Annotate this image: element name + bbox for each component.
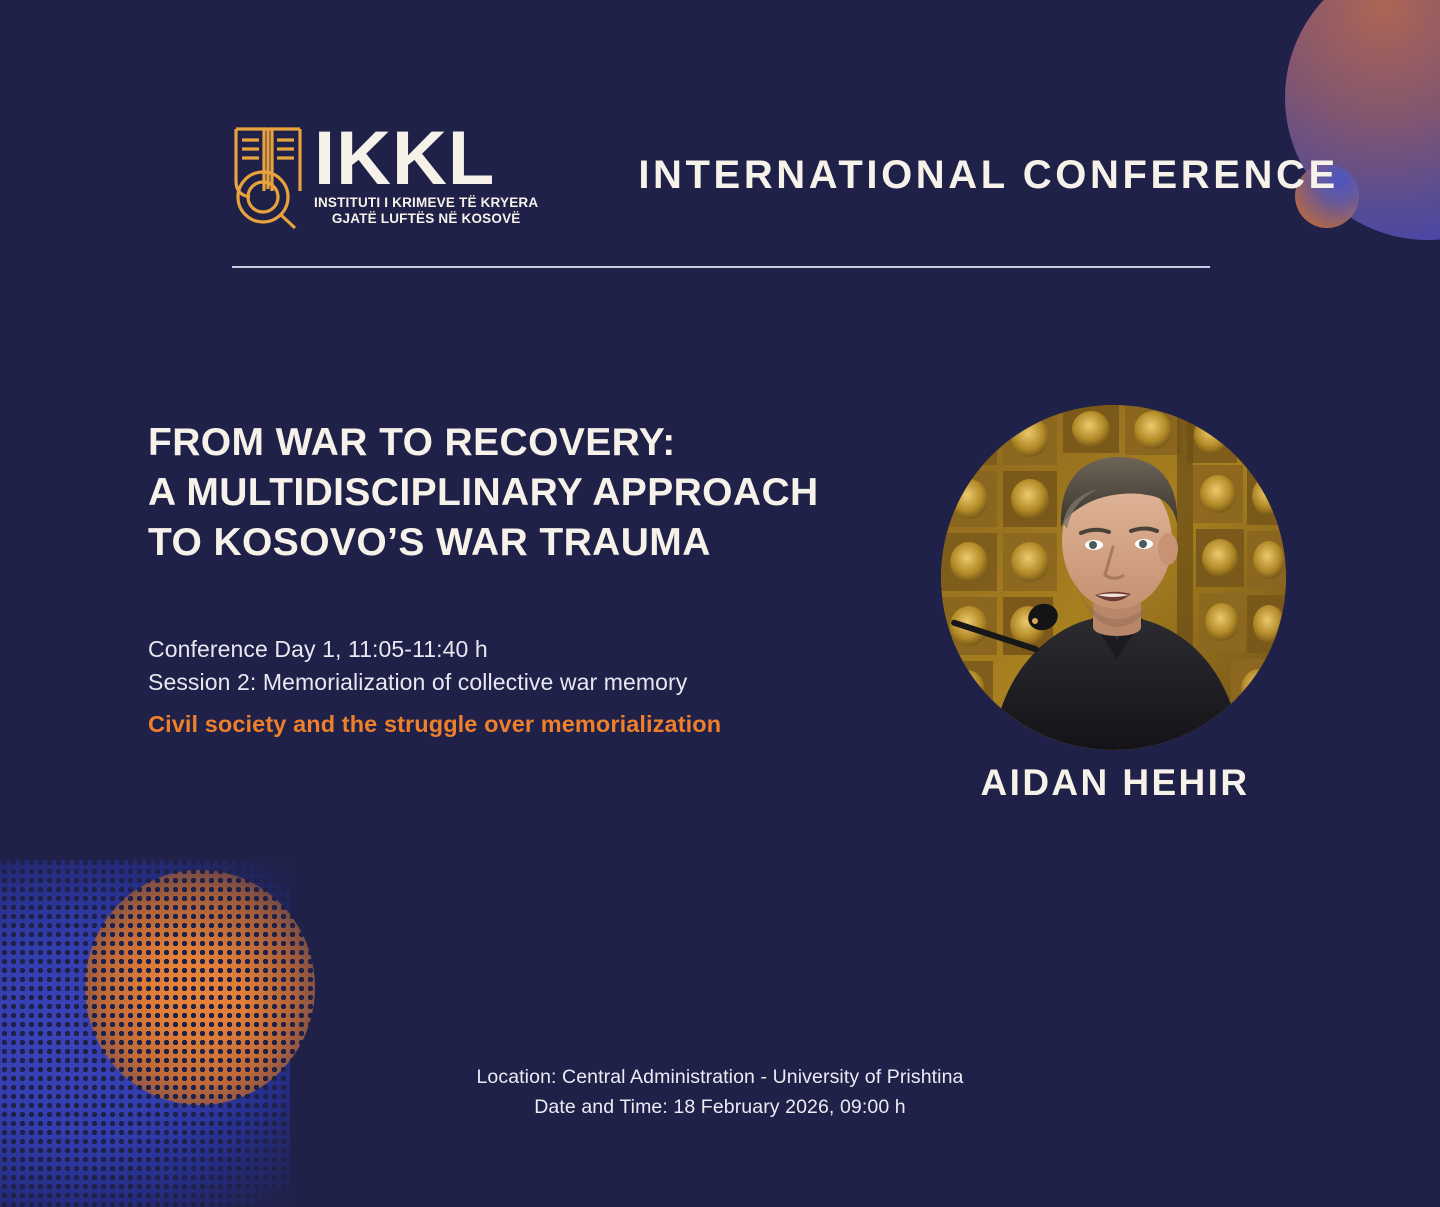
conference-kicker: INTERNATIONAL CONFERENCE [638,153,1338,198]
ikkl-subtitle-line-1: INSTITUTI I KRIMEVE TË KRYERA [314,195,538,211]
ikkl-logo: IKKL INSTITUTI I KRIMEVE TË KRYERA GJATË… [232,119,538,231]
ikkl-acronym: IKKL [314,123,538,195]
poster-title-line-1: FROM WAR TO RECOVERY: [148,418,908,468]
speaker-name: AIDAN HEHIR [880,762,1350,804]
poster-title: FROM WAR TO RECOVERY: A MULTIDISCIPLINAR… [148,418,908,568]
session-details: Conference Day 1, 11:05-11:40 h Session … [148,633,938,741]
ikkl-subtitle-line-2: GJATË LUFTËS NË KOSOVË [314,211,538,227]
session-title: Session 2: Memorialization of collective… [148,666,938,699]
poster-title-line-2: A MULTIDISCIPLINARY APPROACH [148,468,908,518]
poster-header: IKKL INSTITUTI I KRIMEVE TË KRYERA GJATË… [232,110,1210,240]
halftone-edge-fade [0,840,400,1207]
session-day-time: Conference Day 1, 11:05-11:40 h [148,633,938,666]
header-divider [232,266,1210,268]
poster-footer: Location: Central Administration - Unive… [0,1062,1440,1122]
poster-title-line-3: TO KOSOVO’S WAR TRAUMA [148,518,908,568]
ikkl-logo-text: IKKL INSTITUTI I KRIMEVE TË KRYERA GJATË… [314,119,538,227]
speaker-portrait [941,405,1286,750]
footer-location: Location: Central Administration - Unive… [0,1062,1440,1092]
conference-poster: IKKL INSTITUTI I KRIMEVE TË KRYERA GJATË… [0,0,1440,1207]
open-book-magnifier-icon [232,119,304,231]
decorative-halftone-pattern [0,840,400,1207]
footer-date-time: Date and Time: 18 February 2026, 09:00 h [0,1092,1440,1122]
talk-title: Civil society and the struggle over memo… [148,708,938,741]
